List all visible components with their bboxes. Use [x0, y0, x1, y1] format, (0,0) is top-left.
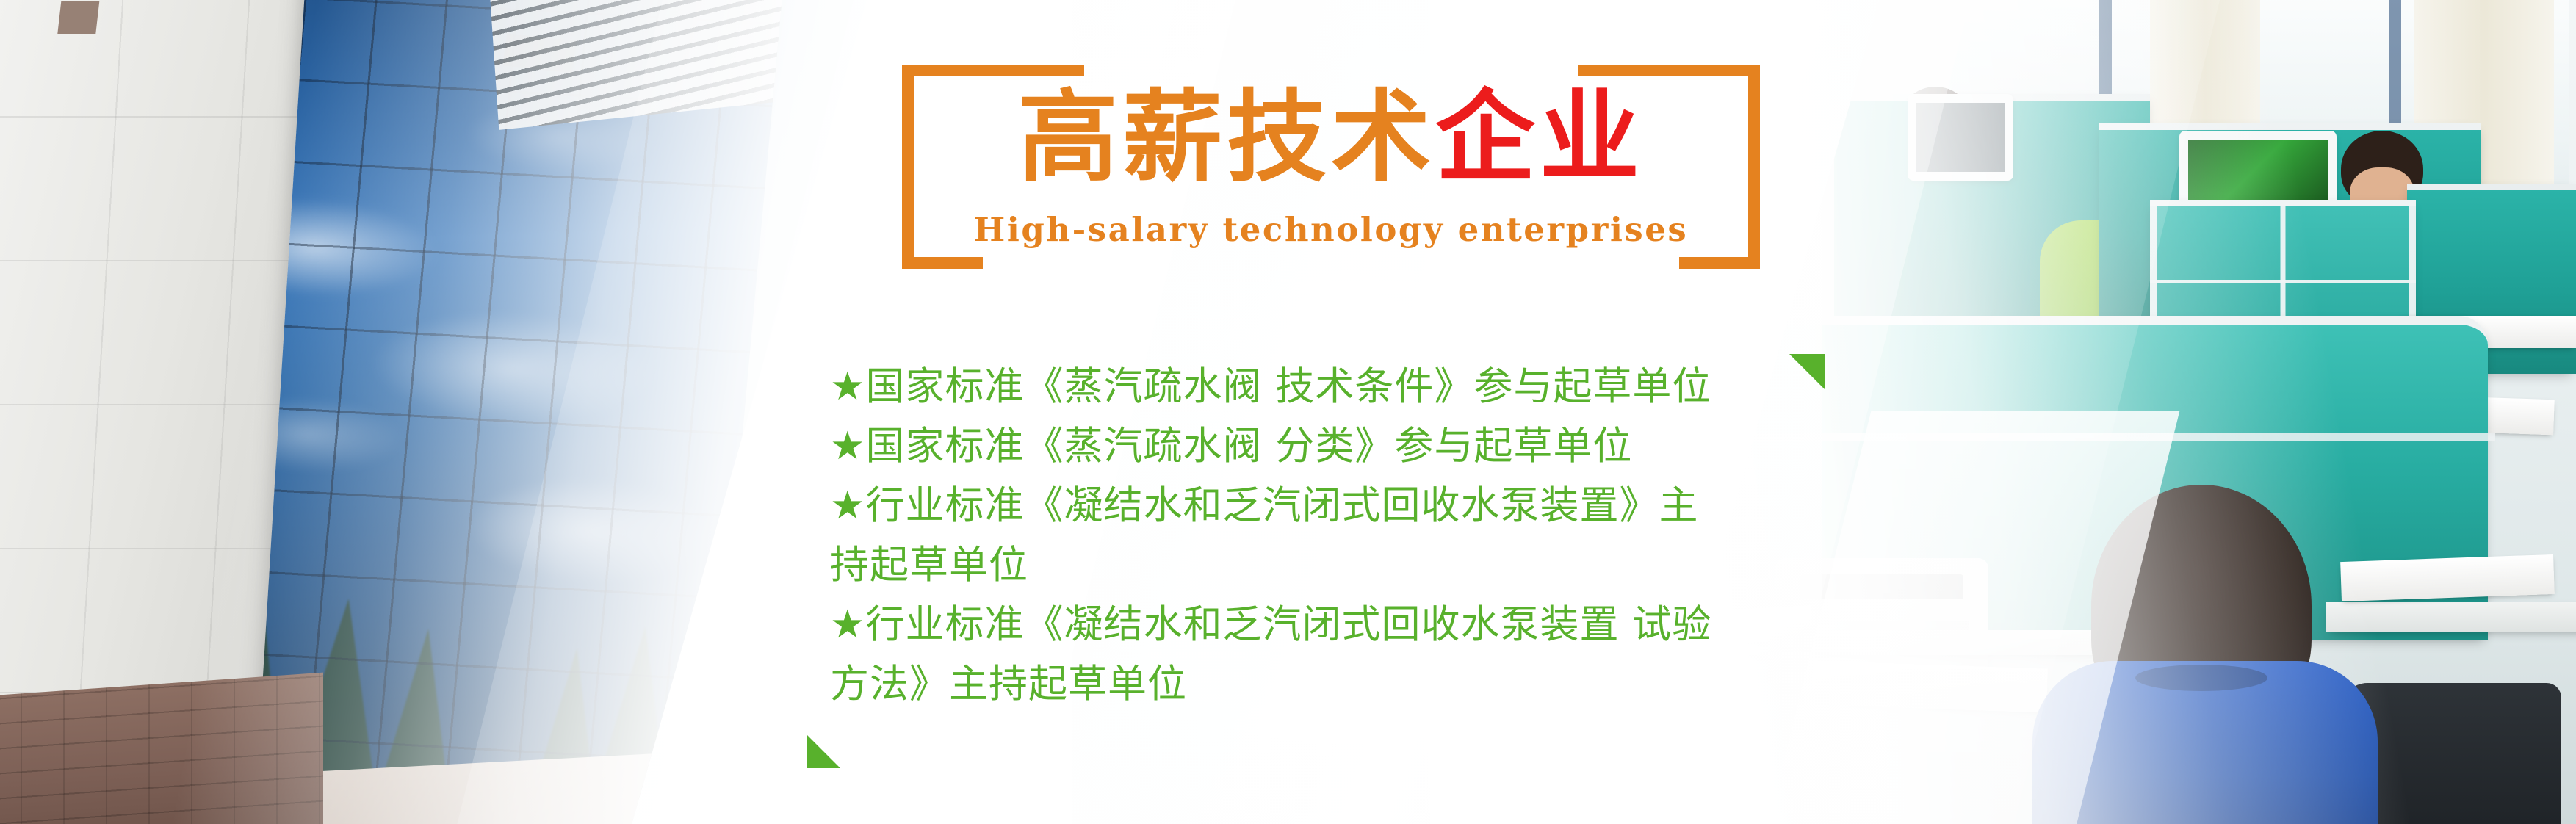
green-triangle-bottom-left-icon: [807, 734, 840, 768]
green-triangle-top-right-icon: [1789, 354, 1825, 389]
achievement-line: ★行业标准《凝结水和乏汽闭式回收水泵装置》主: [830, 476, 1800, 535]
achievement-line: 方法》主持起草单位: [830, 654, 1800, 714]
achievement-line: ★国家标准《蒸汽疏水阀 分类》参与起草单位: [830, 416, 1800, 476]
page-subtitle: High-salary technology enterprises: [902, 210, 1760, 249]
achievement-line: ★行业标准《凝结水和乏汽闭式回收水泵装置 试验: [830, 595, 1800, 654]
achievement-line: 持起草单位: [830, 535, 1800, 595]
frame-edge-bottom-left: [902, 257, 983, 269]
achievement-list: ★国家标准《蒸汽疏水阀 技术条件》参与起草单位 ★国家标准《蒸汽疏水阀 分类》参…: [830, 357, 1800, 714]
hero-banner: 高薪技术企业 High-salary technology enterprise…: [0, 0, 2576, 824]
title-part-orange: 高薪技术: [1018, 88, 1435, 188]
page-title: 高薪技术企业: [902, 65, 1760, 212]
title-part-red: 企业: [1435, 88, 1644, 188]
frame-edge-bottom-right: [1679, 257, 1760, 269]
banner-content: 高薪技术企业 High-salary technology enterprise…: [0, 0, 2576, 824]
achievement-line: ★国家标准《蒸汽疏水阀 技术条件》参与起草单位: [830, 357, 1800, 416]
